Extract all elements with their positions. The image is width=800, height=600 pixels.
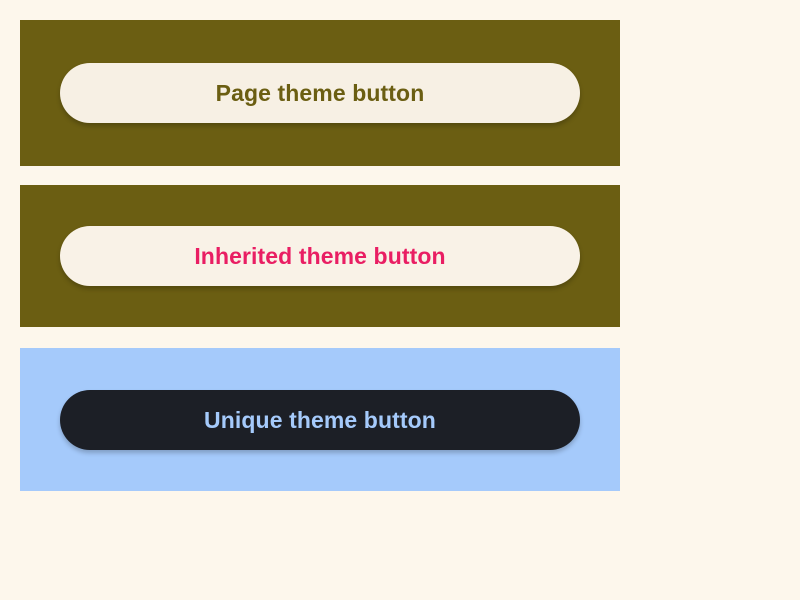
inherited-theme-button[interactable]: Inherited theme button (60, 226, 580, 286)
page-theme-button[interactable]: Page theme button (60, 63, 580, 123)
theme-panel-unique: Unique theme button (20, 348, 620, 491)
theme-panel-inherited: Inherited theme button (20, 185, 620, 327)
theme-panel-page: Page theme button (20, 20, 620, 166)
theme-demo-stage: Page theme button Inherited theme button… (0, 0, 800, 600)
unique-theme-button[interactable]: Unique theme button (60, 390, 580, 450)
